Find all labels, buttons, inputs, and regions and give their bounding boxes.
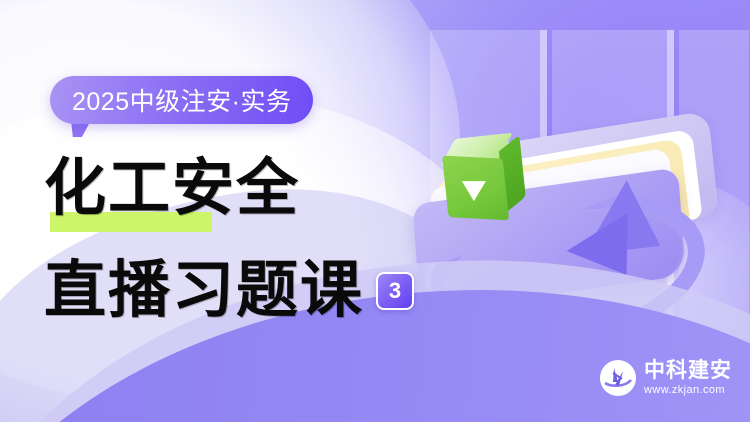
brand-logo: 中科建安 www.zkjan.com [600,360,732,396]
course-promo-banner: 2025中级注安·实务 化工安全 直播习题课 3 中科建安 www.zkjan.… [0,0,750,422]
course-category-label: 2025中级注安·实务 [72,82,291,118]
brand-logo-text: 中科建安 www.zkjan.com [644,360,732,396]
headline-line-2-row: 直播习题课 3 [44,252,464,330]
headline-line-1: 化工安全 [44,150,464,228]
course-category-badge: 2025中级注安·实务 [50,76,313,124]
brand-url: www.zkjan.com [644,385,732,396]
headline-line-1-row: 化工安全 [44,150,464,228]
headline-block: 化工安全 直播习题课 3 [44,150,464,330]
episode-number-badge: 3 [376,272,414,310]
zkjan-logo-icon [600,360,636,396]
headline-line-2: 直播习题课 [44,252,364,330]
brand-name: 中科建安 [644,360,732,381]
play-triangle-icon [462,181,486,201]
